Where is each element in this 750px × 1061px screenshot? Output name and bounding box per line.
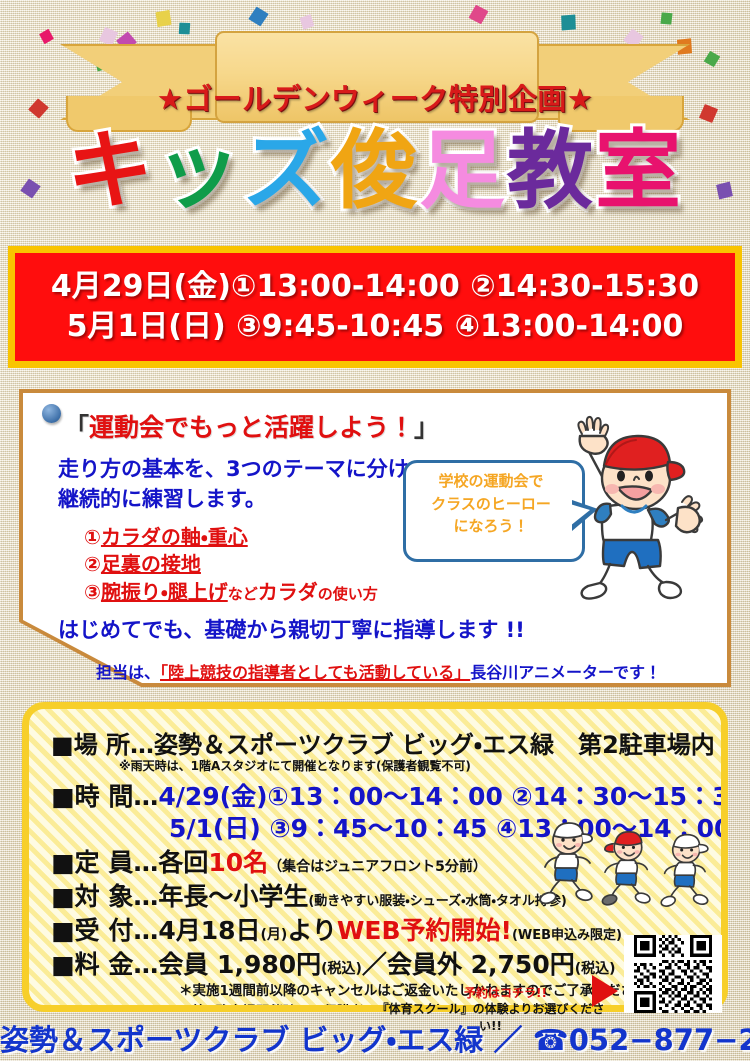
fee-nonmember: 会員外 2,750円 xyxy=(387,950,575,979)
training-point-3: ③腕振り・腿上げなどカラダの使い方 xyxy=(84,579,378,606)
capacity-number: 10名 xyxy=(208,848,268,877)
point-text-b: カラダ xyxy=(258,580,318,604)
page-title: キッズ俊足教室 xyxy=(0,128,750,214)
title-char-3: 俊 xyxy=(331,128,419,214)
footer-contact: 姿勢＆スポーツクラブ ビッグ・エス緑 ／ ☎052−877−2911 xyxy=(0,1017,750,1059)
instructor-suffix: 長谷川アニメーターです！ xyxy=(470,663,661,682)
registration-note: (WEB申込み限定) xyxy=(512,928,622,943)
panel-instructor: 担当は、「陸上競技の指導者としても活動している」長谷川アニメーターです！ xyxy=(96,659,661,683)
place-label: 場 所… xyxy=(74,731,154,759)
bullet-marker: ■ xyxy=(51,848,75,877)
point-text-a: 腕振り・腿上げ xyxy=(101,580,228,604)
confetti-piece xyxy=(659,11,673,25)
title-char-1: ッ xyxy=(155,128,243,214)
capacity-note: （集合はジュニアフロント5分前） xyxy=(268,859,487,875)
qr-code-icon[interactable] xyxy=(624,935,722,1013)
running-kids-illustration xyxy=(530,820,735,915)
bullet-marker: ■ xyxy=(51,950,75,979)
description-line-2: 継続的に練習します。 xyxy=(58,485,429,515)
quote-open: 「 xyxy=(64,413,89,442)
reservation-title: 予約はコチラ!! xyxy=(398,984,613,1001)
footer-phone: 052−877−2911 xyxy=(569,1023,750,1057)
ribbon-banner: ★ゴールデンウィーク特別企画★ xyxy=(60,26,690,134)
quote-close: 」 xyxy=(414,413,439,442)
point-number: ② xyxy=(84,552,101,576)
target-label: 対 象… xyxy=(75,882,159,911)
footer-club-name: 姿勢＆スポーツクラブ ビッグ・エス緑 xyxy=(0,1023,483,1057)
cheering-boy-illustration xyxy=(548,410,718,600)
bullet-marker: ■ xyxy=(51,916,75,945)
title-char-0: キ xyxy=(67,128,155,214)
bullet-marker: ■ xyxy=(51,782,75,811)
instructor-quote: 「陸上競技の指導者としても活動している」 xyxy=(160,663,470,682)
instructor-prefix: 担当は、 xyxy=(96,663,160,682)
confetti-piece xyxy=(37,27,55,45)
fee-separator: ／ xyxy=(362,950,387,979)
date-line-2: 5月1日(日) ③9:45-10:45 ④13:00-14:00 xyxy=(67,307,684,347)
registration-weekday: (月) xyxy=(261,927,288,943)
confetti-piece xyxy=(468,4,489,25)
time-label: 時 間… xyxy=(75,782,159,811)
title-char-6: 室 xyxy=(595,128,683,214)
phone-icon: ☎ xyxy=(533,1023,569,1057)
title-char-5: 教 xyxy=(507,128,595,214)
detail-row-fee: ■料 金…会員 1,980円(税込)／会員外 2,750円(税込) xyxy=(51,945,616,981)
fee-member: 会員 1,980円 xyxy=(158,950,321,979)
target-value: 年長〜小学生 xyxy=(158,882,308,911)
detail-row-registration: ■受 付…4月18日(月)よりWEB予約開始!(WEB申込み限定) xyxy=(51,911,622,947)
headline-core: 運動会でもっと活躍しよう！ xyxy=(89,413,414,442)
flyer-page: ★ゴールデンウィーク特別企画★ キッズ俊足教室 4月29日(金)①13:00-1… xyxy=(0,0,750,1061)
registration-highlight: WEB予約開始! xyxy=(337,916,512,945)
training-point-2: ②足裏の接地 xyxy=(84,551,378,578)
fee-member-tax: (税込) xyxy=(321,961,362,977)
title-char-4: 足 xyxy=(419,128,507,214)
point-number: ③ xyxy=(84,580,101,604)
date-banner: 4月29日(金)①13:00-14:00 ②14:30-15:30 5月1日(日… xyxy=(8,246,742,368)
detail-row-time: ■時 間…4/29(金)①13：00〜14：00 ②14：30〜15：30 xyxy=(51,777,728,813)
panel-headline: 「運動会でもっと活躍しよう！」 xyxy=(64,408,439,444)
point-number: ① xyxy=(84,525,101,549)
place-note: ※雨天時は、1階Aスタジオにて開催となります(保護者観覧不可) xyxy=(119,757,471,774)
registration-date: 4月18日 xyxy=(158,916,260,945)
capacity-label: 定 員… xyxy=(75,848,159,877)
capacity-pre: 各回 xyxy=(158,848,208,877)
training-point-1: ①カラダの軸・重心 xyxy=(84,524,378,551)
date-line-1: 4月29日(金)①13:00-14:00 ②14:30-15:30 xyxy=(51,267,699,307)
title-char-2: ズ xyxy=(243,128,331,214)
banner-title: ★ゴールデンウィーク特別企画★ xyxy=(60,76,690,118)
footer-separator: ／ xyxy=(494,1023,523,1057)
time-line-1: 4/29(金)①13：00〜14：00 ②14：30〜15：30 xyxy=(158,782,728,811)
detail-row-place: ■場 所…姿勢＆スポーツクラブ ビッグ・エス緑 第2駐車場内 xyxy=(51,725,715,760)
confetti-piece xyxy=(27,97,50,120)
bullet-marker: ■ xyxy=(51,731,74,759)
confetti-piece xyxy=(703,50,721,68)
training-points-list: ①カラダの軸・重心 ②足裏の接地 ③腕振り・腿上げなどカラダの使い方 xyxy=(84,524,378,606)
fee-label: 料 金… xyxy=(75,950,159,979)
push-pin-icon xyxy=(42,404,61,423)
play-arrow-icon xyxy=(592,975,618,1007)
detail-row-capacity: ■定 員…各回10名（集合はジュニアフロント5分前） xyxy=(51,843,487,879)
bullet-marker: ■ xyxy=(51,882,75,911)
point-small-b: の使い方 xyxy=(318,585,378,603)
description-line-1: 走り方の基本を、3つのテーマに分け、 xyxy=(58,455,429,485)
point-text: カラダの軸・重心 xyxy=(101,525,248,549)
panel-closing: はじめてでも、基礎から親切丁寧に指導します !! xyxy=(58,614,525,644)
point-small-a: など xyxy=(228,585,258,603)
confetti-piece xyxy=(247,5,269,27)
place-value: 姿勢＆スポーツクラブ ビッグ・エス緑 第2駐車場内 xyxy=(154,731,715,759)
registration-mid: より xyxy=(287,916,337,945)
confetti-piece xyxy=(698,103,718,123)
detail-row-target: ■対 象…年長〜小学生(動きやすい服装・シューズ・水筒・タオル持参) xyxy=(51,877,567,913)
point-text: 足裏の接地 xyxy=(101,552,201,576)
target-note: (動きやすい服装・シューズ・水筒・タオル持参) xyxy=(308,894,567,909)
registration-label: 受 付… xyxy=(75,916,159,945)
panel-description: 走り方の基本を、3つのテーマに分け、 継続的に練習します。 xyxy=(58,455,429,515)
